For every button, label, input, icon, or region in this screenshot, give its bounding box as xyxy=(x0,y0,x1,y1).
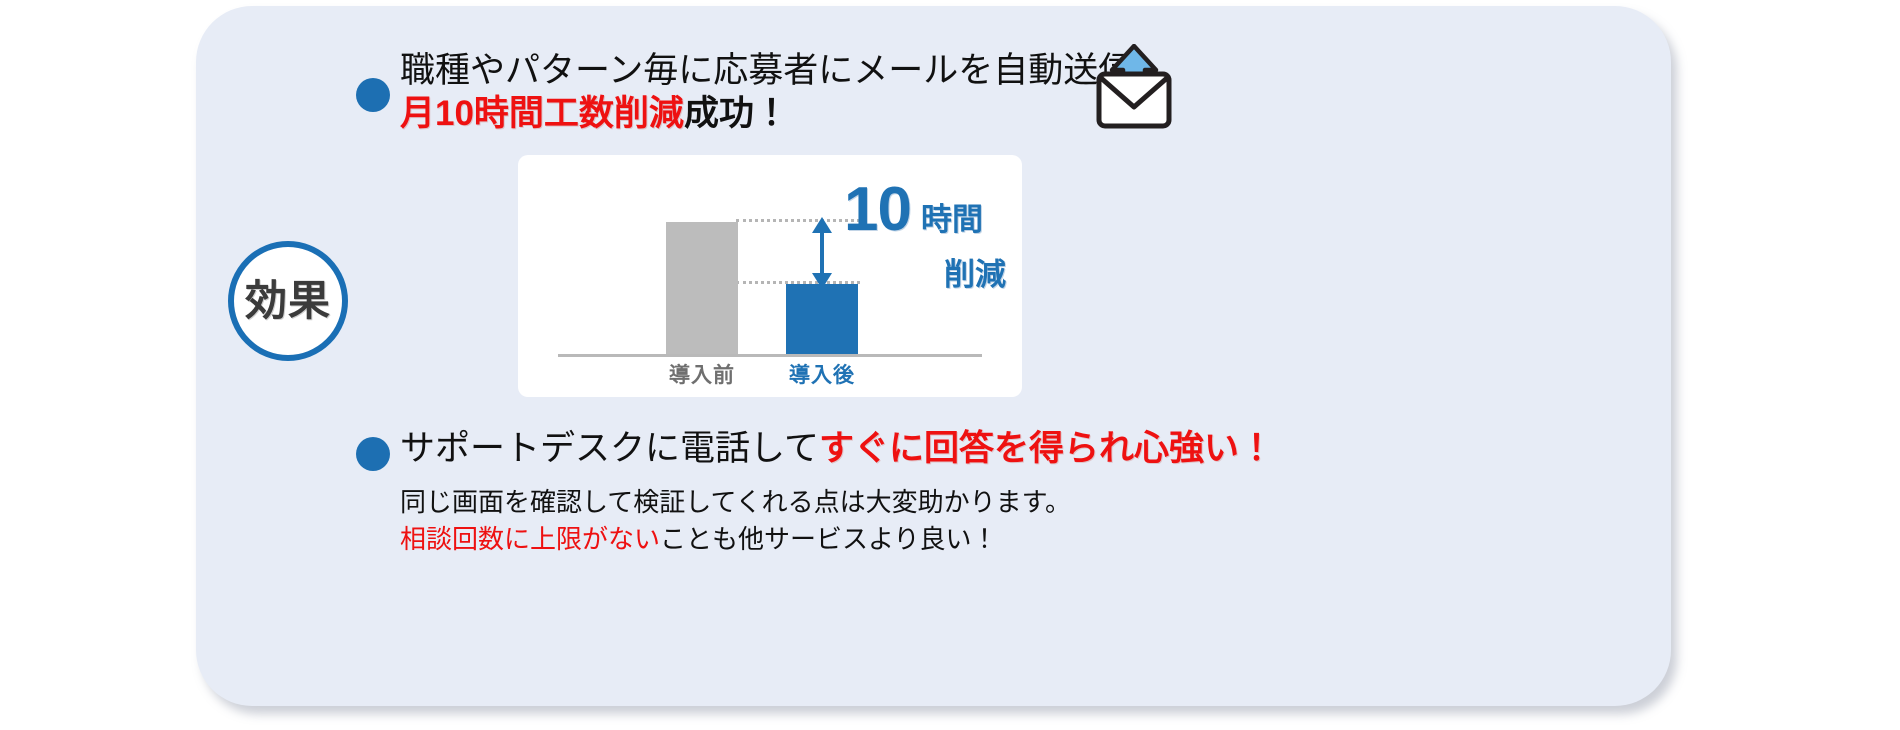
bullet-2-lead: サポートデスクに電話して xyxy=(400,429,819,468)
chart-category-after: 導入後 xyxy=(762,359,882,389)
chart-guide-top xyxy=(736,219,860,222)
bullet-2-highlight: すぐに回答を得られ心強い！ xyxy=(819,429,1274,468)
chart-annotation-unit: 時間 xyxy=(921,204,983,235)
chart-baseline xyxy=(558,354,982,357)
bullet-1-line-2-tail: 成功！ xyxy=(684,94,789,133)
chart-category-before: 導入前 xyxy=(642,359,762,389)
effect-badge-label: 効果 xyxy=(245,280,331,322)
chart-annotation-line2: 削減 xyxy=(844,249,1014,294)
bullet-dot-2 xyxy=(356,437,390,471)
bullet-1-highlight: 月10時間工数削減 xyxy=(400,94,684,133)
sub-notes: 同じ画面を確認して検証してくれる点は大変助かります。 相談回数に上限がないことも… xyxy=(400,484,1400,558)
sub-note-1: 同じ画面を確認して検証してくれる点は大変助かります。 xyxy=(400,484,1400,521)
bullet-1-line-2: 月10時間工数削減成功！ xyxy=(400,93,1160,134)
chart-bar-before xyxy=(666,222,738,356)
bullet-dot-1 xyxy=(356,78,390,112)
screenshot-root: 効果 職種やパターン毎に応募者にメールを自動送信 月10時間工数削減成功！ xyxy=(0,0,1900,730)
sub-note-2: 相談回数に上限がないことも他サービスより良い！ xyxy=(400,521,1400,558)
bullet-1-line-1: 職種やパターン毎に応募者にメールを自動送信 xyxy=(400,50,1160,91)
chart-annotation: 10 時間 削減 xyxy=(844,179,1014,294)
reduction-arrow-icon xyxy=(804,217,840,289)
effect-bar-chart: 導入前 導入後 10 時間 削減 xyxy=(518,155,1022,397)
bullet-2-line-1: サポートデスクに電話してすぐに回答を得られ心強い！ xyxy=(400,428,1400,470)
chart-annotation-number: 10 xyxy=(844,179,911,241)
mail-send-icon xyxy=(1092,44,1176,130)
bullet-1-text: 職種やパターン毎に応募者にメールを自動送信 月10時間工数削減成功！ xyxy=(400,50,1160,135)
chart-bar-after xyxy=(786,284,858,356)
bullet-2-text: サポートデスクに電話してすぐに回答を得られ心強い！ xyxy=(400,428,1400,470)
effect-badge: 効果 xyxy=(228,241,348,361)
sub-note-2-tail: ことも他サービスより良い！ xyxy=(660,524,997,554)
sub-note-2-highlight: 相談回数に上限がない xyxy=(400,524,660,554)
